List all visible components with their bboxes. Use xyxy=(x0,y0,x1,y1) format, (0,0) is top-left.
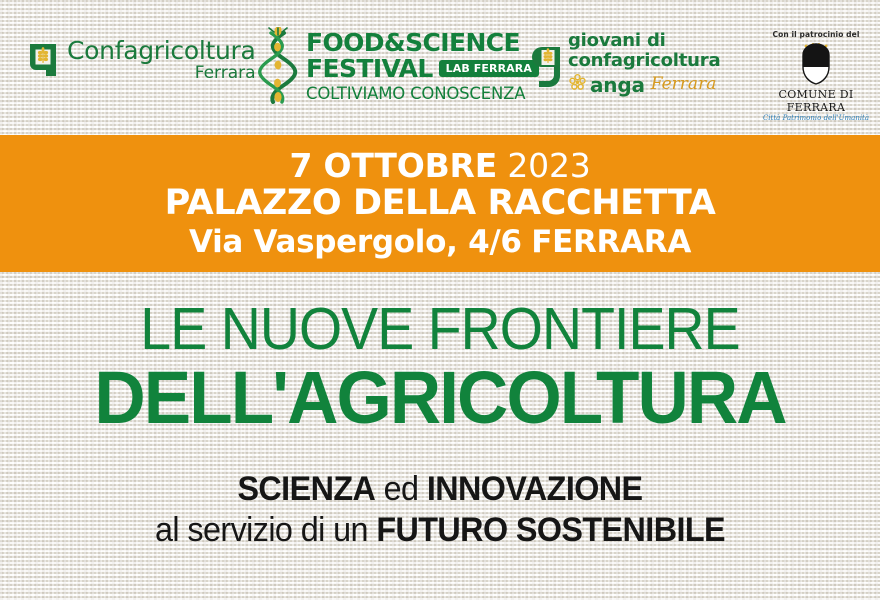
headline-line2: DELL'AGRICOLTURA xyxy=(18,361,863,435)
anga-line2: confagricoltura xyxy=(568,52,720,70)
subtitle-ed: ed xyxy=(384,470,419,508)
comune-name: COMUNE DI FERRARA xyxy=(752,88,880,114)
event-address-city: FERRARA xyxy=(531,224,691,260)
subtitle-block: SCIENZA ed INNOVAZIONE al servizio di un… xyxy=(0,470,880,549)
confagricoltura-name: Confagricoltura xyxy=(67,38,256,63)
subtitle-line1: SCIENZA ed INNOVAZIONE xyxy=(22,470,858,508)
patronage-label: Con il patrocinio del xyxy=(752,30,880,39)
subtitle-innovazione: INNOVAZIONE xyxy=(427,470,643,508)
subtitle-line2: al servizio di un FUTURO SOSTENIBILE xyxy=(22,511,858,549)
event-details-band: 7 OTTOBRE 2023 PALAZZO DELLA RACCHETTA V… xyxy=(0,135,880,272)
logo-food-science-festival: FOOD&SCIENCE FESTIVAL LAB FERRARA COLTIV… xyxy=(258,27,539,105)
event-date-day: 7 OTTOBRE xyxy=(289,146,497,185)
festival-line1: FOOD&SCIENCE xyxy=(306,30,539,55)
anga-line1: giovani di xyxy=(568,32,720,50)
anga-g-wheat-icon xyxy=(532,39,564,89)
crowned-shield-icon xyxy=(790,41,842,87)
festival-line2: FESTIVAL xyxy=(306,56,433,81)
event-address: Via Vaspergolo, 4/6 FERRARA xyxy=(189,225,691,259)
event-venue: PALAZZO DELLA RACCHETTA xyxy=(165,185,716,223)
festival-tagline: COLTIVIAMO CONOSCENZA xyxy=(306,86,539,103)
event-poster: Confagricoltura Ferrara xyxy=(0,0,880,600)
anga-wordmark: anga xyxy=(590,75,645,95)
logo-confagricoltura: Confagricoltura Ferrara xyxy=(26,38,256,82)
anga-flower-icon xyxy=(568,73,587,96)
subtitle-scienza: SCIENZA xyxy=(237,470,375,508)
confagricoltura-wheat-ear-icon xyxy=(26,40,60,80)
confagricoltura-city: Ferrara xyxy=(67,65,256,82)
sponsor-logo-strip: Confagricoltura Ferrara xyxy=(0,0,880,135)
subtitle-al-servizio: al servizio di un xyxy=(155,511,368,549)
comune-subtitle: Città Patrimonio dell'Umanità xyxy=(752,114,880,122)
headline-line1: LE NUOVE FRONTIERE xyxy=(26,300,853,359)
logo-comune-ferrara: Con il patrocinio del COMUNE DI FERRARA … xyxy=(752,30,880,122)
subtitle-futuro-sostenibile: FUTURO SOSTENIBILE xyxy=(376,511,725,549)
event-date-year: 2023 xyxy=(507,146,590,185)
main-headline: LE NUOVE FRONTIERE DELL'AGRICOLTURA xyxy=(0,300,880,435)
dna-helix-wheat-icon xyxy=(258,27,298,105)
festival-lab-badge: LAB FERRARA xyxy=(439,60,539,77)
event-date-line: 7 OTTOBRE 2023 xyxy=(289,148,590,184)
logo-anga-giovani: giovani di confagricoltura xyxy=(532,32,720,96)
event-address-street: Via Vaspergolo, 4/6 xyxy=(189,224,522,260)
anga-city: Ferrara xyxy=(651,76,717,93)
